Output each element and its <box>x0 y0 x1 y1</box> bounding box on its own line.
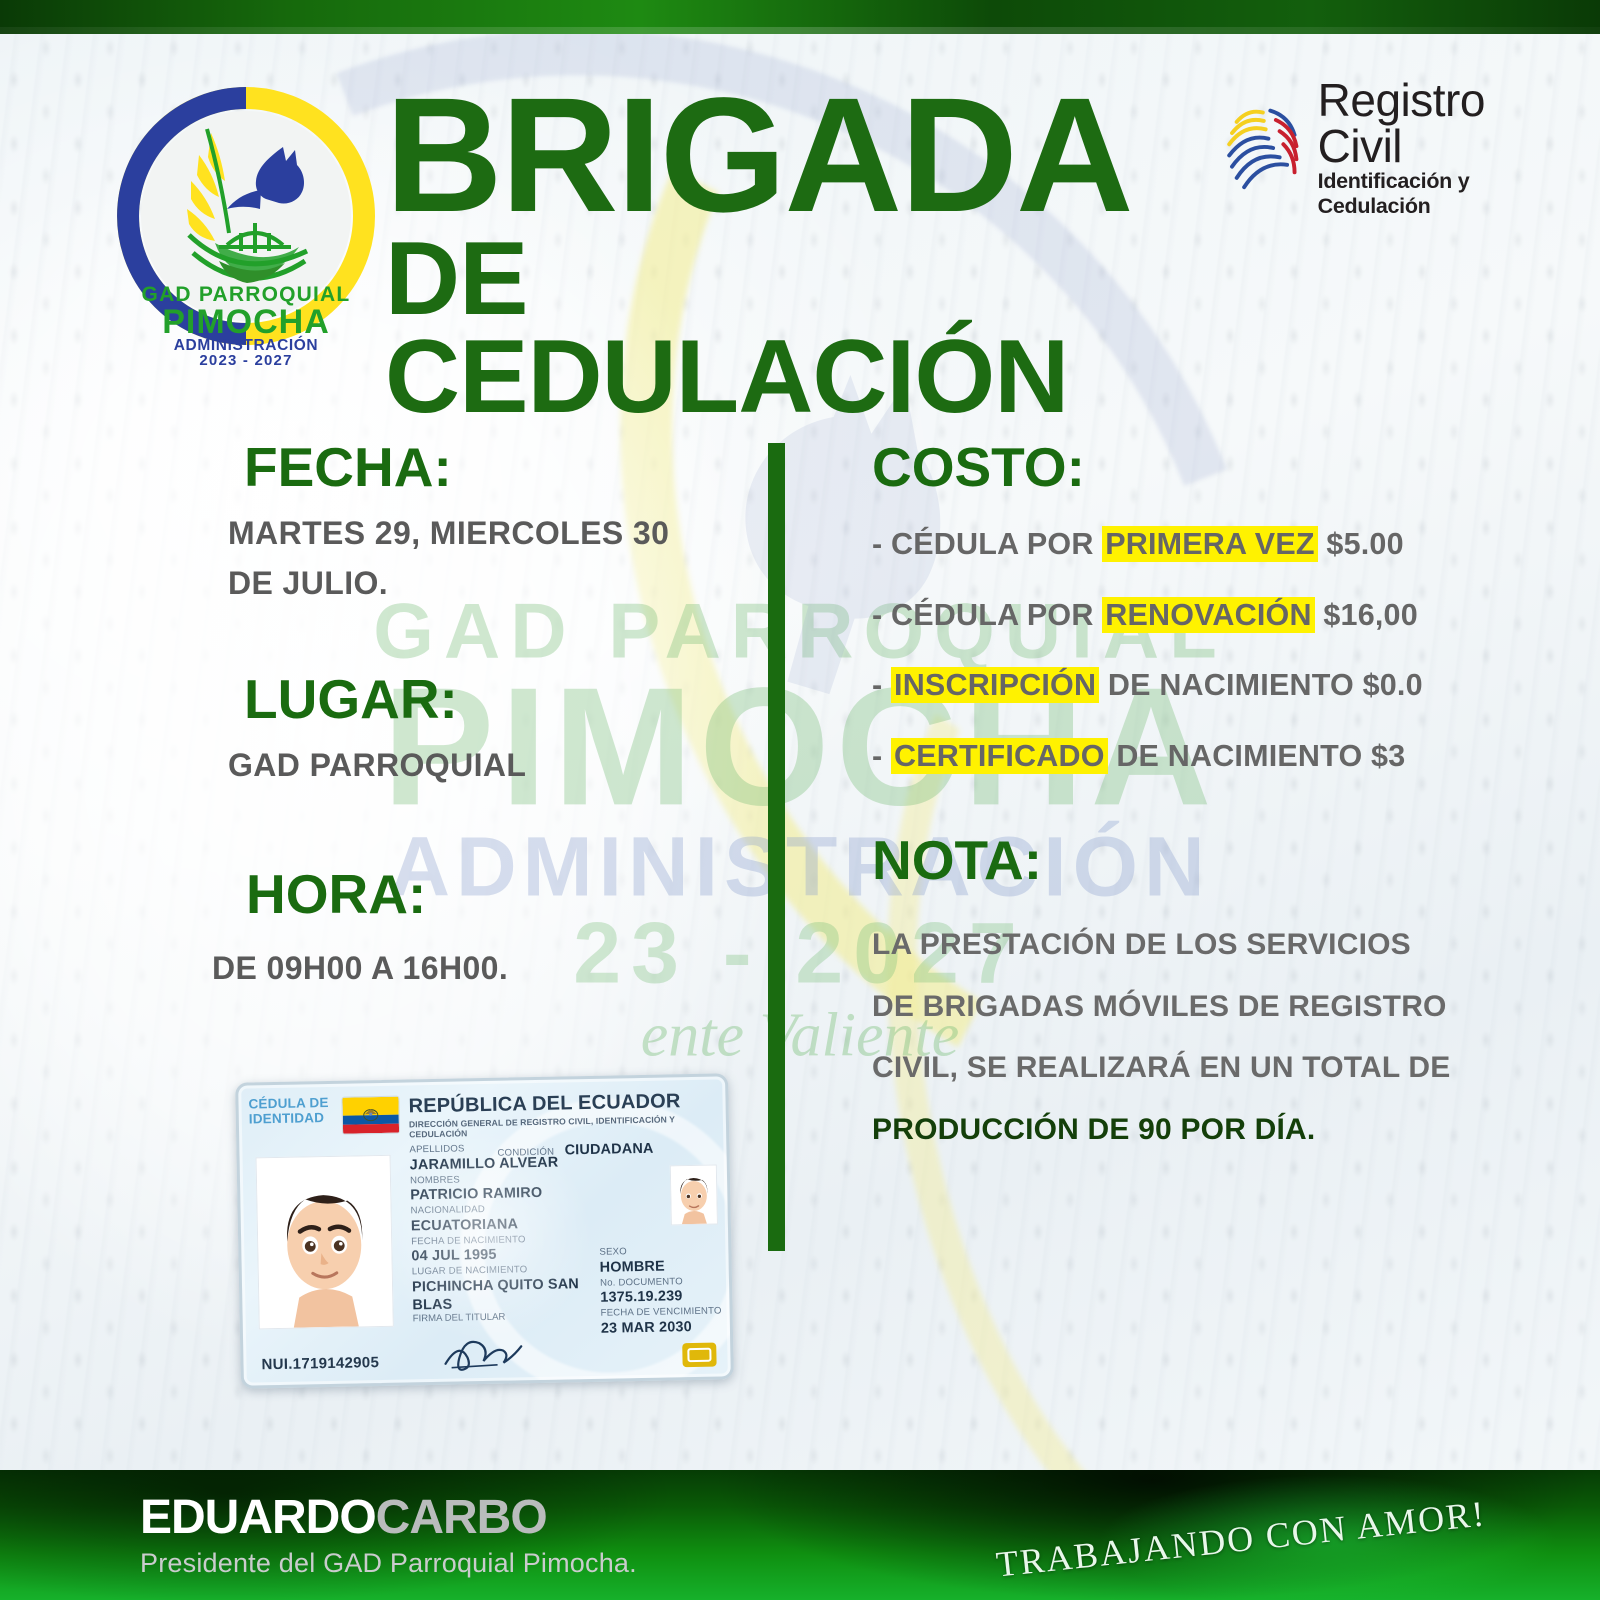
card-nui: NUI.1719142905 <box>261 1354 379 1373</box>
poster-root: GAD PARROQUIAL PIMOCHA ADMINISTRACIÓN 23… <box>0 0 1600 1600</box>
card-vencimiento-value: 23 MAR 2030 <box>601 1318 731 1338</box>
footer-slogan: TRABAJANDO CON AMOR! <box>994 1492 1488 1585</box>
cost-highlight: RENOVACIÓN <box>1102 597 1314 633</box>
card-field-group-right: SEXO HOMBRE No. DOCUMENTO 1375.19.239 FE… <box>599 1244 731 1338</box>
nota-label: NOTA: <box>872 833 1532 888</box>
cost-highlight: CERTIFICADO <box>891 738 1108 774</box>
footer-role: Presidente del GAD Parroquial Pimocha. <box>140 1548 637 1579</box>
cost-highlight: INSCRIPCIÓN <box>891 667 1099 703</box>
ecuador-id-card: CÉDULA DE IDENTIDAD REPÚBLICA DEL ECUADO… <box>235 1073 734 1388</box>
card-lugar-nac-value: PICHINCHA QUITO SAN BLAS <box>412 1276 613 1315</box>
card-condicion-value: CIUDADANA <box>564 1141 653 1159</box>
cost-line: - CÉDULA POR RENOVACIÓN $16,00 <box>872 600 1532 631</box>
page-title: BRIGADA <box>385 88 1205 222</box>
card-vencimiento-label: FECHA DE VENCIMIENTO <box>600 1305 730 1320</box>
poster-title-block: BRIGADA DE CEDULACIÓN <box>385 88 1205 427</box>
portrait-avatar-icon <box>257 1156 393 1329</box>
cost-line: - INSCRIPCIÓN DE NACIMIENTO $0.0 <box>872 670 1532 701</box>
cost-list: - CÉDULA POR PRIMERA VEZ $5.00- CÉDULA P… <box>872 529 1532 771</box>
hora-block: HORA: DE 09H00 A 16H00. <box>228 867 748 994</box>
cost-suffix: DE NACIMIENTO $3 <box>1108 739 1406 773</box>
card-portrait-photo <box>256 1155 394 1330</box>
footer-bar: EDUARDOCARBO Presidente del GAD Parroqui… <box>0 1470 1600 1600</box>
registro-civil-text: Registro Civil Identificación y Cedulaci… <box>1318 77 1570 218</box>
logo-line-5: De gente Valiente <box>192 369 299 370</box>
card-field-group-left: APELLIDOS JARAMILLO ALVEAR NOMBRES PATRI… <box>409 1141 612 1315</box>
cost-suffix: DE NACIMIENTO $0.0 <box>1099 668 1423 702</box>
footer-name-first: EDUARDO <box>140 1491 376 1544</box>
card-nombres-label: NOMBRES <box>410 1171 610 1188</box>
fingerprint-icon <box>1218 98 1308 198</box>
card-condicion-label: CONDICIÓN <box>497 1147 554 1159</box>
card-lugar-nac-label: LUGAR DE NACIMIENTO <box>412 1263 612 1280</box>
fecha-block: FECHA: MARTES 29, MIERCOLES 30 DE JULIO. <box>228 440 748 608</box>
signature-icon <box>439 1326 532 1376</box>
card-nombres-value: PATRICIO RAMIRO <box>410 1184 610 1205</box>
card-fecha-nac-label: FECHA DE NACIMIENTO <box>411 1232 611 1249</box>
lugar-block: LUGAR: GAD PARROQUIAL <box>228 672 748 791</box>
nota-line: PRODUCCIÓN DE 90 POR DÍA. <box>872 1099 1532 1161</box>
fecha-value: MARTES 29, MIERCOLES 30 DE JULIO. <box>228 509 748 608</box>
left-info-column: FECHA: MARTES 29, MIERCOLES 30 DE JULIO.… <box>228 440 748 993</box>
gad-logo-svg: GAD PARROQUIAL PIMOCHA ADMINISTRACIÓN 20… <box>115 85 377 370</box>
costo-label: COSTO: <box>872 440 1532 495</box>
cost-highlight: PRIMERA VEZ <box>1102 526 1318 562</box>
nota-block: NOTA: LA PRESTACIÓN DE LOS SERVICIOSDE B… <box>872 833 1532 1160</box>
nota-line: DE BRIGADAS MÓVILES DE REGISTRO <box>872 976 1532 1038</box>
footer-name: EDUARDOCARBO <box>140 1490 547 1545</box>
lugar-value: GAD PARROQUIAL <box>228 741 748 791</box>
logo-line-2: PIMOCHA <box>162 303 330 341</box>
fecha-label: FECHA: <box>244 440 748 495</box>
nota-body: LA PRESTACIÓN DE LOS SERVICIOSDE BRIGADA… <box>872 914 1532 1160</box>
hora-label: HORA: <box>246 867 748 922</box>
card-thumbnail-photo <box>670 1165 718 1226</box>
cost-line: - CÉDULA POR PRIMERA VEZ $5.00 <box>872 529 1532 560</box>
registro-civil-subtitle: Identificación y Cedulación <box>1318 169 1570 218</box>
lugar-label: LUGAR: <box>244 672 748 727</box>
card-nacionalidad-value: ECUATORIANA <box>411 1215 611 1236</box>
cost-prefix: - CÉDULA POR <box>872 527 1102 561</box>
card-cedula-text: CÉDULA DE IDENTIDAD <box>248 1096 335 1127</box>
hora-value: DE 09H00 A 16H00. <box>212 944 748 994</box>
thumbnail-avatar-icon <box>671 1166 717 1225</box>
top-green-bar <box>0 0 1600 34</box>
registro-civil-title: Registro Civil <box>1318 77 1570 169</box>
footer-name-last: CARBO <box>376 1491 547 1544</box>
registro-civil-logo: Registro Civil Identificación y Cedulaci… <box>1218 95 1570 200</box>
page-subtitle: DE CEDULACIÓN <box>385 230 1205 428</box>
nota-line: CIVIL, SE REALIZARÁ EN UN TOTAL DE <box>872 1037 1532 1099</box>
card-firma-label: FIRMA DEL TITULAR <box>413 1312 506 1325</box>
card-nacionalidad-label: NACIONALIDAD <box>410 1202 610 1219</box>
vertical-divider <box>768 443 785 1251</box>
cost-prefix: - <box>872 739 891 773</box>
logo-line-4: 2023 - 2027 <box>199 352 292 369</box>
flag-svg <box>342 1097 399 1134</box>
card-cedula-label: CÉDULA DE IDENTIDAD <box>248 1096 335 1127</box>
ecuador-flag-icon <box>342 1097 399 1134</box>
cost-line: - CERTIFICADO DE NACIMIENTO $3 <box>872 741 1532 772</box>
nota-line: LA PRESTACIÓN DE LOS SERVICIOS <box>872 914 1532 976</box>
cost-prefix: - CÉDULA POR <box>872 598 1102 632</box>
card-condicion-group: CONDICIÓN CIUDADANA <box>497 1140 653 1162</box>
card-fecha-nac-value: 04 JUL 1995 <box>411 1245 611 1266</box>
cost-prefix: - <box>872 668 891 702</box>
card-chip-icon <box>682 1343 716 1368</box>
fecha-line-2: DE JULIO. <box>228 559 748 609</box>
right-info-column: COSTO: - CÉDULA POR PRIMERA VEZ $5.00- C… <box>872 440 1532 1160</box>
cost-suffix: $5.00 <box>1318 527 1404 561</box>
cost-suffix: $16,00 <box>1315 598 1418 632</box>
fecha-line-1: MARTES 29, MIERCOLES 30 <box>228 509 748 559</box>
gad-pimocha-logo: GAD PARROQUIAL PIMOCHA ADMINISTRACIÓN 20… <box>115 85 377 370</box>
